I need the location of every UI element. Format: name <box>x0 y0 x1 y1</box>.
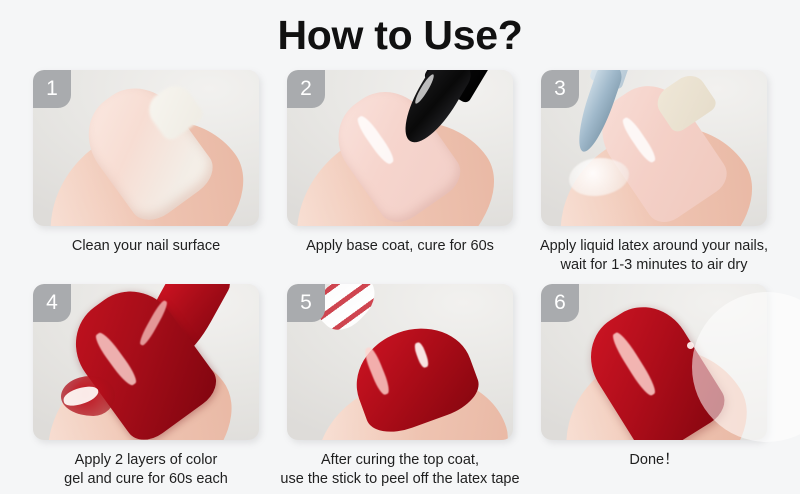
step-caption-4: Apply 2 layers of color gel and cure for… <box>21 451 271 489</box>
steps-grid: 1 Clean your nail surface 2 Apply base c… <box>33 70 767 489</box>
step-number-badge-1: 1 <box>33 70 71 108</box>
step-item-2: 2 Apply base coat, cure for 60s <box>287 70 513 275</box>
step-image-card-4: 4 <box>33 284 259 440</box>
step-caption-2: Apply base coat, cure for 60s <box>275 237 525 256</box>
step-image-card-1: 1 <box>33 70 259 226</box>
step-image-card-3: 3 <box>541 70 767 226</box>
step-number-badge-2: 2 <box>287 70 325 108</box>
step-caption-3: Apply liquid latex around your nails, wa… <box>529 237 779 275</box>
step-item-4: 4 Apply 2 layers of color gel and cure f… <box>33 284 259 489</box>
step-item-3: 3 Apply liquid latex around your nails, … <box>541 70 767 275</box>
how-to-use-page: How to Use? 1 Clean your nail surface <box>0 0 800 494</box>
step-caption-1: Clean your nail surface <box>21 237 271 256</box>
step-image-card-2: 2 <box>287 70 513 226</box>
step-item-1: 1 Clean your nail surface <box>33 70 259 275</box>
step-number-badge-6: 6 <box>541 284 579 322</box>
step-caption-6: Done！ <box>529 451 779 470</box>
page-title: How to Use? <box>0 9 800 61</box>
step-image-card-5: 5 <box>287 284 513 440</box>
step-item-5: 5 After curing the top coat, use the sti… <box>287 284 513 489</box>
step-caption-5: After curing the top coat, use the stick… <box>275 451 525 489</box>
step-number-badge-3: 3 <box>541 70 579 108</box>
step-number-badge-4: 4 <box>33 284 71 322</box>
step-number-badge-5: 5 <box>287 284 325 322</box>
nail-highlight-dot <box>687 342 694 349</box>
